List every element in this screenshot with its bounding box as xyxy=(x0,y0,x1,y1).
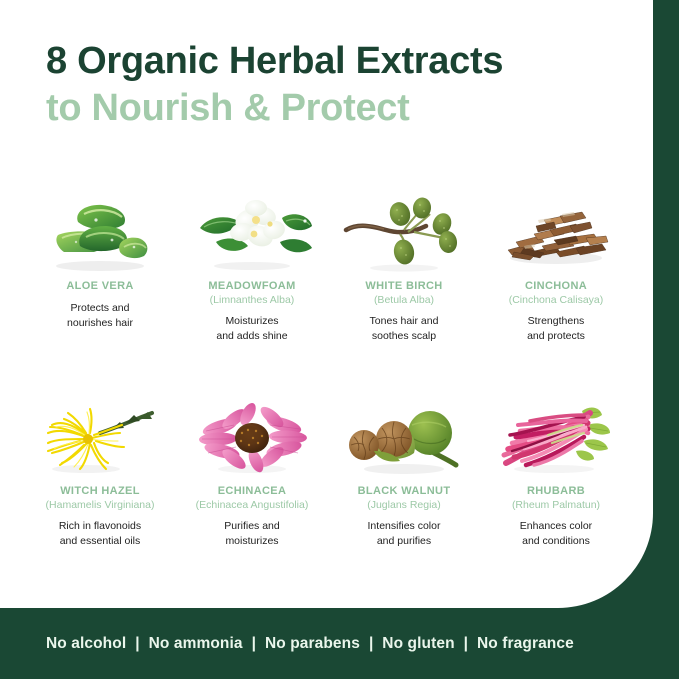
herb-latin-name: (Echinacea Angustifolia) xyxy=(196,499,309,512)
infographic-poster: 8 Organic Herbal Extracts to Nourish & P… xyxy=(0,0,679,679)
cinchona-bark-icon xyxy=(490,190,622,276)
claims-footer-bar: No alcohol | No ammonia | No parabens | … xyxy=(0,608,679,679)
claim-separator: | xyxy=(135,635,139,653)
claim-item: No alcohol xyxy=(46,635,126,653)
white-birch-icon xyxy=(338,190,470,276)
herb-description: Enhances color and conditions xyxy=(520,519,592,549)
herb-name: WHITE BIRCH xyxy=(365,280,442,293)
herb-description: Protects and nourishes hair xyxy=(67,301,133,331)
herb-name: BLACK WALNUT xyxy=(358,485,451,498)
page-header: 8 Organic Herbal Extracts to Nourish & P… xyxy=(46,40,626,131)
rhubarb-icon xyxy=(490,395,622,481)
witch-hazel-icon xyxy=(34,395,166,481)
claim-separator: | xyxy=(464,635,468,653)
herb-name: RHUBARB xyxy=(527,485,585,498)
herb-name: WITCH HAZEL xyxy=(60,485,140,498)
herb-card: ECHINACEA (Echinacea Angustifolia) Purif… xyxy=(176,395,328,600)
herb-latin-name: (Cinchona Calisaya) xyxy=(509,294,604,307)
aloe-vera-icon xyxy=(34,190,166,276)
herb-name: CINCHONA xyxy=(525,280,587,293)
black-walnut-icon xyxy=(338,395,470,481)
herb-grid: ALOE VERA Protects and nourishes hair xyxy=(24,190,632,600)
herb-card: MEADOWFOAM (Limnanthes Alba) Moisturizes… xyxy=(176,190,328,395)
herb-latin-name: (Hamamelis Virginiana) xyxy=(46,499,155,512)
herb-card: BLACK WALNUT (Juglans Regia) Intensifies… xyxy=(328,395,480,600)
herb-latin-name: (Betula Alba) xyxy=(374,294,434,307)
herb-description: Intensifies color and purifies xyxy=(368,519,441,549)
claim-item: No fragrance xyxy=(477,635,574,653)
herb-description: Rich in flavonoids and essential oils xyxy=(59,519,141,549)
herb-name: ALOE VERA xyxy=(66,280,133,293)
herb-name: MEADOWFOAM xyxy=(208,280,295,293)
herb-card: ALOE VERA Protects and nourishes hair xyxy=(24,190,176,395)
claim-separator: | xyxy=(252,635,256,653)
herb-description: Moisturizes and adds shine xyxy=(216,314,287,344)
herb-card: WHITE BIRCH (Betula Alba) Tones hair and… xyxy=(328,190,480,395)
herb-name: ECHINACEA xyxy=(218,485,287,498)
herb-latin-name: (Juglans Regia) xyxy=(367,499,441,512)
echinacea-icon xyxy=(186,395,318,481)
page-title-primary: 8 Organic Herbal Extracts xyxy=(46,40,626,83)
claim-item: No ammonia xyxy=(149,635,243,653)
claim-separator: | xyxy=(369,635,373,653)
claims-list: No alcohol | No ammonia | No parabens | … xyxy=(46,635,574,653)
meadowfoam-icon xyxy=(186,190,318,276)
herb-description: Purifies and moisturizes xyxy=(224,519,279,549)
claim-item: No gluten xyxy=(382,635,454,653)
herb-description: Tones hair and soothes scalp xyxy=(370,314,439,344)
herb-latin-name: (Rheum Palmatun) xyxy=(512,499,600,512)
herb-card: CINCHONA (Cinchona Calisaya) Strengthens… xyxy=(480,190,632,395)
herb-description: Strengthens and protects xyxy=(527,314,585,344)
herb-latin-name: (Limnanthes Alba) xyxy=(210,294,295,307)
claim-item: No parabens xyxy=(265,635,360,653)
herb-card: RHUBARB (Rheum Palmatun) Enhances color … xyxy=(480,395,632,600)
herb-card: WITCH HAZEL (Hamamelis Virginiana) Rich … xyxy=(24,395,176,600)
page-title-secondary: to Nourish & Protect xyxy=(46,87,626,130)
